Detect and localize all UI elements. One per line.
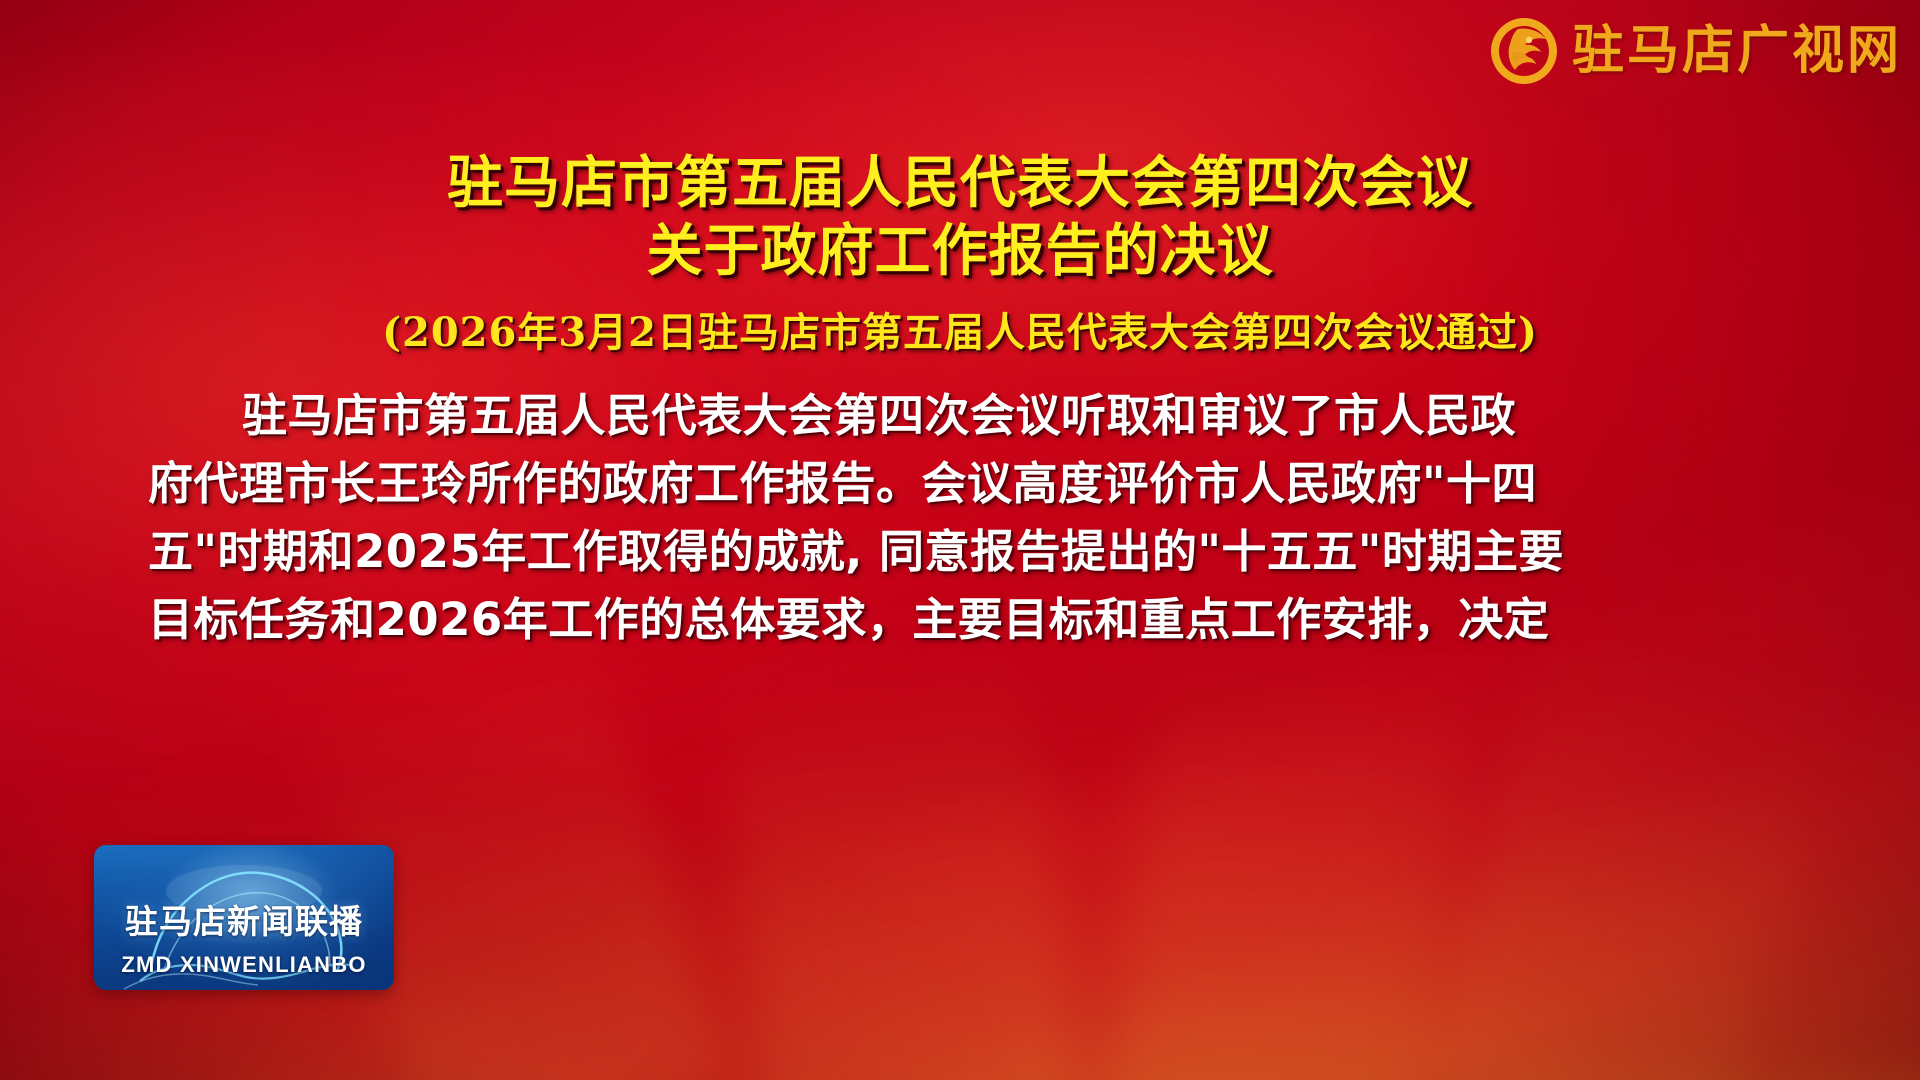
resolution-document: 驻马店市第五届人民代表大会第四次会议 关于政府工作报告的决议 (2026年3月2… xyxy=(0,150,1920,654)
document-body-line-4: 目标任务和2026年工作的总体要求，主要目标和重点工作安排，决定 xyxy=(148,586,1772,654)
station-bug: 驻马店新闻联播 ZMD XINWENLIANBO xyxy=(94,845,394,990)
document-body-line-3: 五"时期和2025年工作取得的成就, 同意报告提出的"十五五"时期主要 xyxy=(148,518,1772,586)
channel-logo: 驻马店广视网 xyxy=(1488,10,1902,92)
channel-logo-wordmark: 驻马店广视网 xyxy=(1572,25,1902,77)
station-bug-program-name-romanized: ZMD XINWENLIANBO xyxy=(94,952,394,978)
document-title-line-1: 驻马店市第五届人民代表大会第四次会议 xyxy=(0,150,1920,218)
document-body-line-2: 府代理市长王玲所作的政府工作报告。会议高度评价市人民政府"十四 xyxy=(148,450,1772,518)
document-body-line-1: 驻马店市第五届人民代表大会第四次会议听取和审议了市人民政 xyxy=(148,382,1772,450)
document-title-line-2: 关于政府工作报告的决议 xyxy=(0,218,1920,286)
broadcast-slate: 驻马店广视网 驻马店市第五届人民代表大会第四次会议 关于政府工作报告的决议 (2… xyxy=(0,0,1920,1080)
document-body: 驻马店市第五届人民代表大会第四次会议听取和审议了市人民政 府代理市长王玲所作的政… xyxy=(0,382,1920,654)
document-subtitle: (2026年3月2日驻马店市第五届人民代表大会第四次会议通过) xyxy=(0,308,1920,358)
zhumadian-broadcast-emblem-icon xyxy=(1488,15,1560,87)
station-bug-program-name: 驻马店新闻联播 xyxy=(94,895,394,943)
